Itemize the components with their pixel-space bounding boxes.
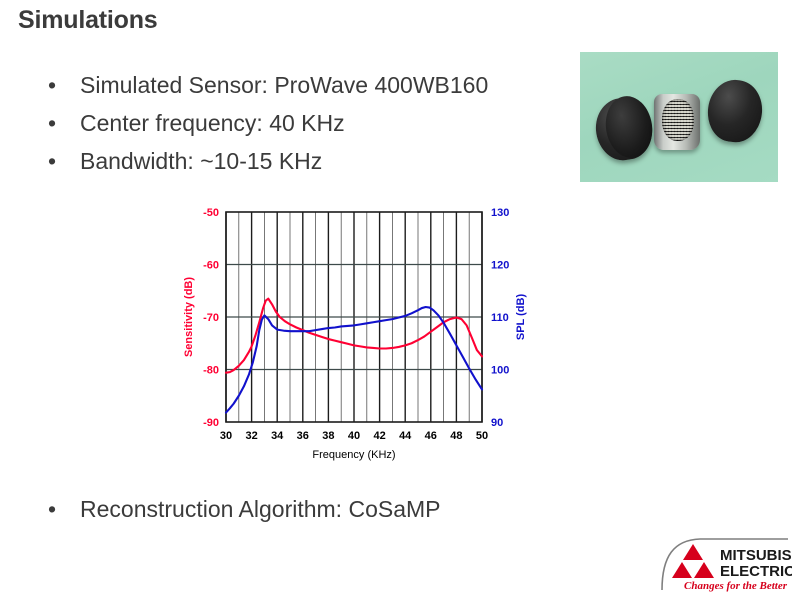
y-axis-title-left: Sensitivity (dB) [183,277,195,357]
x-tick-label: 48 [450,430,462,442]
bullet-text: Center frequency: 40 KHz [80,110,345,136]
list-item: • Reconstruction Algorithm: CoSaMP [44,490,441,528]
ultrasonic-sensor-photo [580,52,778,182]
bullet-list-top: • Simulated Sensor: ProWave 400WB160 • C… [44,66,488,180]
bullet-text: Simulated Sensor: ProWave 400WB160 [80,72,488,98]
logo-tagline: Changes for the Better [684,580,788,592]
x-axis-title: Frequency (KHz) [312,449,395,461]
x-tick-label: 36 [297,430,309,442]
x-tick-label: 30 [220,430,232,442]
y-tick-label-left: -70 [203,312,219,324]
y-tick-label-right: 100 [491,365,509,377]
bullet-text: Bandwidth: ~10-15 KHz [80,148,322,174]
x-tick-label: 32 [245,430,257,442]
y-tick-label-right: 90 [491,417,503,429]
x-tick-label: 50 [476,430,488,442]
y-tick-label-right: 120 [491,260,509,272]
bullet-list-bottom: • Reconstruction Algorithm: CoSaMP [44,490,441,528]
sensor-mesh-grille [662,99,694,141]
page-title: Simulations [18,6,158,35]
list-item: • Center frequency: 40 KHz [44,104,488,142]
y-tick-label-left: -50 [203,207,219,219]
y-tick-label-left: -90 [203,417,219,429]
y-axis-title-right: SPL (dB) [515,294,527,341]
three-diamonds-icon [672,544,714,578]
y-tick-label-right: 110 [491,312,509,324]
frequency-response-chart: 3032343638404244464850Frequency (KHz)-50… [180,198,530,468]
bullet-text: Reconstruction Algorithm: CoSaMP [80,496,441,522]
logo-wordmark-line1: MITSUBISHI [720,547,792,564]
x-tick-label: 44 [399,430,412,442]
slide-canvas: Simulations • Simulated Sensor: ProWave … [0,0,800,599]
y-tick-label-left: -60 [203,260,219,272]
list-item: • Simulated Sensor: ProWave 400WB160 [44,66,488,104]
x-tick-label: 42 [373,430,385,442]
mitsubishi-electric-logo: MITSUBISHI ELECTRIC Changes for the Bett… [660,534,792,592]
x-tick-label: 34 [271,430,284,442]
chart-svg: 3032343638404244464850Frequency (KHz)-50… [180,198,530,468]
logo-svg: MITSUBISHI ELECTRIC Changes for the Bett… [660,534,792,592]
y-tick-label-left: -80 [203,365,219,377]
logo-wordmark-line2: ELECTRIC [720,563,792,580]
bullet-marker-icon: • [48,66,56,104]
x-tick-label: 40 [348,430,360,442]
bullet-marker-icon: • [48,104,56,142]
bullet-marker-icon: • [48,142,56,180]
bullet-marker-icon: • [48,490,56,528]
y-tick-label-right: 130 [491,207,509,219]
x-tick-label: 38 [322,430,334,442]
x-tick-label: 46 [425,430,437,442]
sensor-cap-right [704,77,765,145]
list-item: • Bandwidth: ~10-15 KHz [44,142,488,180]
